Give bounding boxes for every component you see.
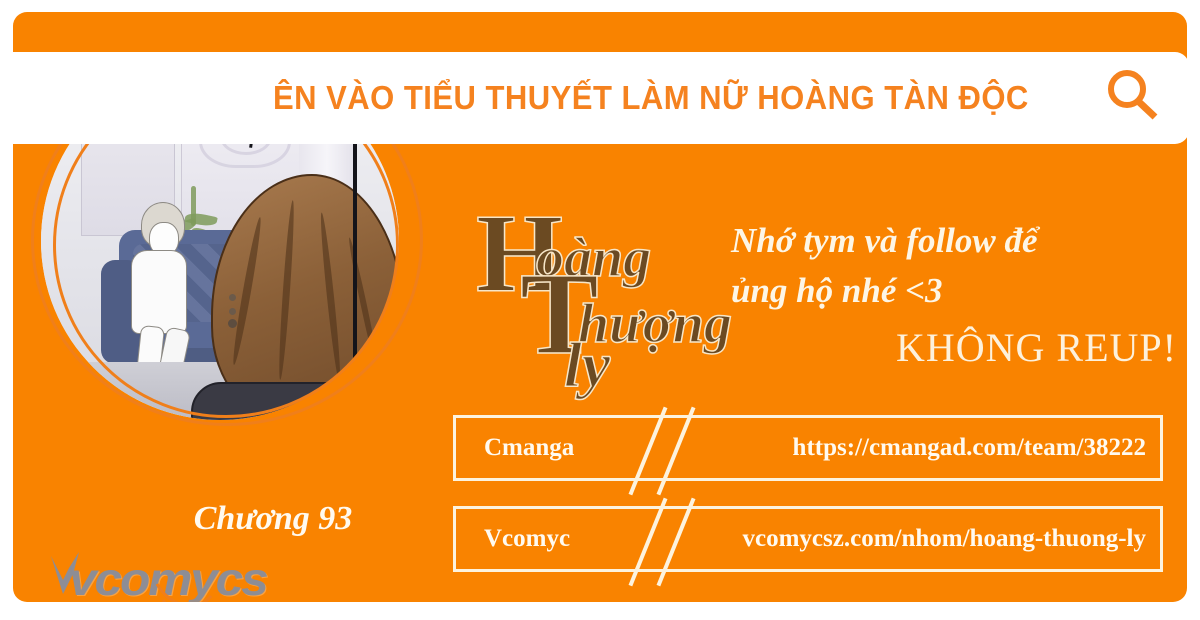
chapter-label: Chương 93 [143, 500, 403, 538]
search-icon[interactable] [1101, 65, 1163, 132]
logo-letter-ly: ly [564, 328, 610, 402]
group-logo: H oàng T hượng ly [468, 200, 718, 380]
title-band-content: ÊN VÀO TIỂU THUYẾT LÀM NỮ HOÀNG TÀN ĐỘC [273, 52, 1187, 144]
watermark: vcomycs [35, 552, 285, 602]
page-title: ÊN VÀO TIỂU THUYẾT LÀM NỮ HOÀNG TÀN ĐỘC [273, 79, 1029, 117]
credit-row[interactable]: Vcomyc vcomycsz.com/nhom/hoang-thuong-ly [453, 506, 1163, 572]
credit-site-url[interactable]: vcomycsz.com/nhom/hoang-thuong-ly [743, 509, 1146, 569]
note-line-1: Nhớ tym và follow để [731, 216, 1187, 266]
screenshot-root: ÊN VÀO TIỂU THUYẾT LÀM NỮ HOÀNG TÀN ĐỘC … [0, 0, 1200, 620]
note-line-2: ủng hộ nhé <3 [731, 266, 1187, 316]
credit-site-name: Vcomyc [484, 509, 570, 569]
title-band: ÊN VÀO TIỂU THUYẾT LÀM NỮ HOÀNG TÀN ĐỘC [13, 52, 1187, 144]
credit-site-name: Cmanga [484, 418, 574, 478]
orange-card: ÊN VÀO TIỂU THUYẾT LÀM NỮ HOÀNG TÀN ĐỘC … [13, 12, 1187, 602]
no-reup-warning: KHÔNG REUP! [731, 322, 1187, 374]
watermark-fade [35, 598, 285, 602]
credit-row[interactable]: Cmanga https://cmangad.com/team/38222 [453, 415, 1163, 481]
support-notes: Nhớ tym và follow để ủng hộ nhé <3 KHÔNG… [731, 216, 1187, 374]
credit-site-url[interactable]: https://cmangad.com/team/38222 [793, 418, 1146, 478]
